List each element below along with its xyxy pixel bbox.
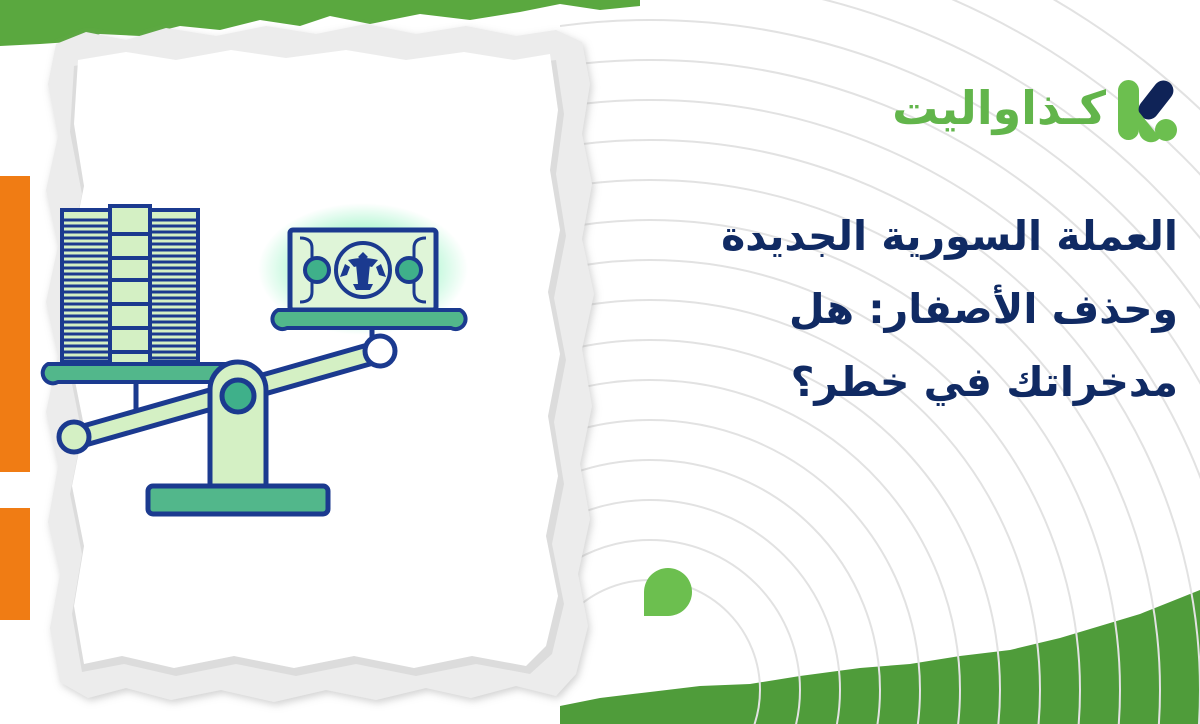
banknote-stack — [62, 206, 198, 374]
stack-band-segments — [110, 206, 150, 374]
brand-wordmark: كـذاواليت — [892, 85, 1106, 131]
headline-line-2: وحذف الأصفار: هل — [618, 273, 1178, 346]
poster-canvas: كـذاواليت العملة السورية الجديدة وحذف ال… — [0, 0, 1200, 724]
headline-line-1: العملة السورية الجديدة — [618, 200, 1178, 273]
scale-pivot — [222, 380, 254, 412]
balance-scale-currency-illustration — [40, 200, 580, 520]
scale-column — [210, 362, 266, 492]
headline-line-3: مدخراتك في خطر؟ — [618, 346, 1178, 419]
green-teardrop-dot — [644, 568, 692, 616]
brand-logo[interactable]: كـذاواليت — [892, 72, 1178, 144]
k-monogram-icon — [1116, 72, 1178, 144]
scale-base — [148, 486, 328, 514]
page-title: العملة السورية الجديدة وحذف الأصفار: هل … — [618, 200, 1178, 419]
right-content-column: كـذاواليت العملة السورية الجديدة وحذف ال… — [600, 0, 1200, 724]
